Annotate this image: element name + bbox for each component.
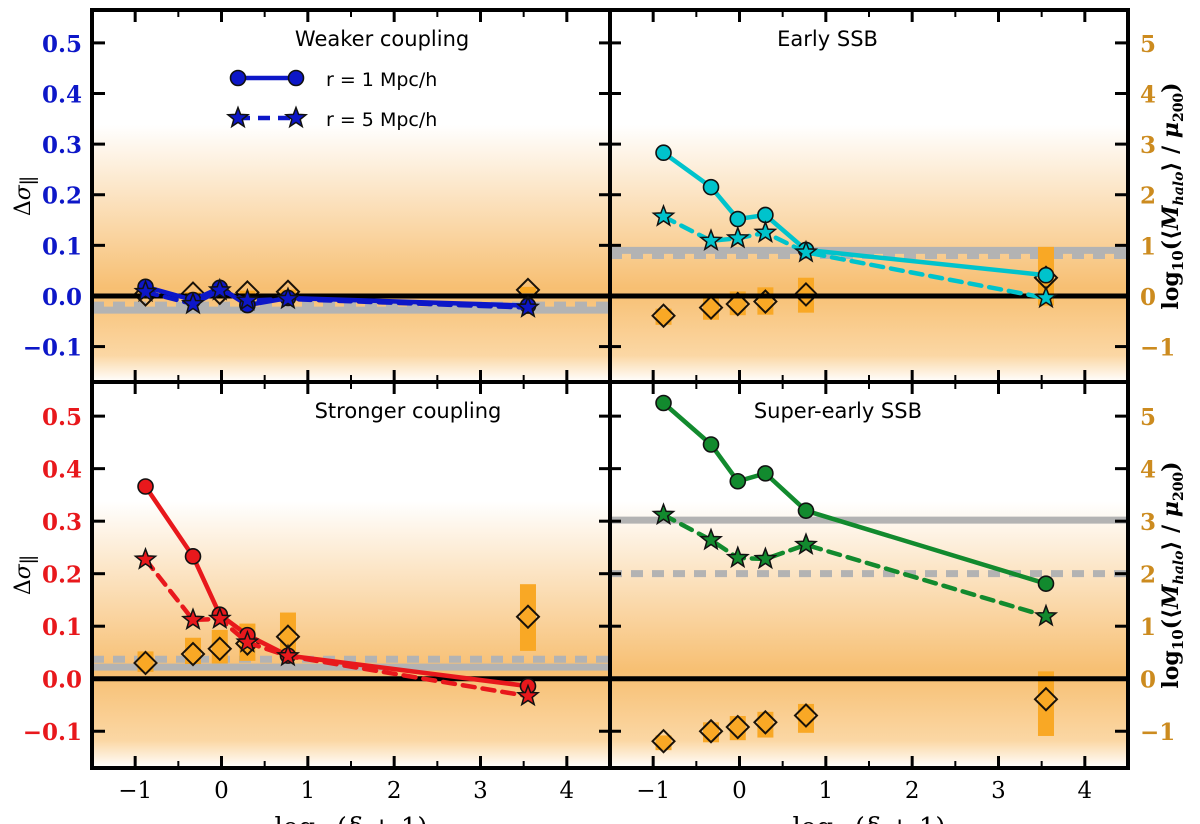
panel-weaker: Weaker coupling — [92, 10, 610, 382]
y-tick-label-left: 0.4 — [42, 457, 82, 484]
x-tick-label: −1 — [118, 778, 152, 804]
x-tick-label: 2 — [387, 778, 402, 804]
x-tick-label: 4 — [560, 778, 575, 804]
x-tick-label: 1 — [819, 778, 834, 804]
panel-superearly: Super-early SSB — [610, 382, 1128, 768]
x-tick-label: 0 — [732, 778, 747, 804]
marker-circle — [730, 474, 745, 489]
y-tick-label-left: 0.0 — [42, 667, 82, 694]
y-tick-label-left: 0.5 — [42, 31, 82, 58]
panel-early: Early SSB — [610, 10, 1128, 382]
y-tick-label-right: 0 — [1140, 284, 1156, 311]
marker-circle — [730, 212, 745, 227]
x-tick-label: 2 — [905, 778, 920, 804]
marker-circle — [758, 466, 773, 481]
panel-title-early: Early SSB — [777, 27, 878, 51]
y-tick-label-right: 5 — [1140, 31, 1156, 58]
y-tick-label-right: 4 — [1140, 457, 1156, 484]
marker-circle — [1038, 576, 1053, 591]
x-tick-label: 3 — [473, 778, 488, 804]
marker-circle — [186, 549, 201, 564]
figure-canvas: Weaker couplingEarly SSBStronger couplin… — [0, 0, 1200, 824]
y-tick-label-right: 0 — [1140, 667, 1156, 694]
y-tick-label-right: 4 — [1140, 82, 1156, 109]
y-tick-label-left: −0.1 — [23, 335, 82, 362]
percentile-box — [730, 716, 746, 740]
y-tick-label-right: 5 — [1140, 404, 1156, 431]
y-tick-label-right: 2 — [1140, 183, 1156, 210]
y-tick-label-left: 0.2 — [42, 183, 82, 210]
y-tick-label-left: 0.3 — [42, 509, 82, 536]
y-tick-label-right: 1 — [1140, 233, 1156, 260]
panel-background — [92, 10, 610, 382]
marker-circle — [656, 396, 671, 411]
panel-title-weaker: Weaker coupling — [295, 27, 469, 51]
marker-circle — [656, 145, 671, 160]
legend-label: r = 5 Mpc/h — [326, 109, 437, 131]
legend-marker-circle — [231, 71, 246, 86]
y-tick-label-left: 0.1 — [42, 233, 82, 260]
legend-label: r = 1 Mpc/h — [326, 69, 437, 91]
marker-circle — [798, 503, 813, 518]
y-tick-label-left: 0.3 — [42, 132, 82, 159]
marker-circle — [1038, 268, 1053, 283]
y-tick-label-left: −0.1 — [23, 719, 82, 746]
panel-title-superearly: Super-early SSB — [754, 399, 922, 423]
y-axis-title-top-right: log10(⟨Mhalo⟩ / μ200) — [1158, 82, 1187, 309]
y-tick-label-right: 3 — [1140, 509, 1156, 536]
panel-stronger: Stronger coupling — [92, 382, 610, 768]
percentile-box — [798, 704, 814, 733]
y-tick-label-left: 0.2 — [42, 562, 82, 589]
x-tick-label: 0 — [214, 778, 229, 804]
y-axis-title-top-left: Δσ∥ — [11, 176, 41, 216]
marker-circle — [138, 479, 153, 494]
x-tick-label: 3 — [991, 778, 1006, 804]
y-tick-label-right: 1 — [1140, 614, 1156, 641]
marker-circle — [704, 180, 719, 195]
panel-title-stronger: Stronger coupling — [315, 399, 502, 423]
x-tick-label: 1 — [301, 778, 316, 804]
percentile-box — [520, 584, 536, 651]
y-tick-label-left: 0.1 — [42, 614, 82, 641]
percentile-box — [520, 287, 536, 293]
x-tick-label: −1 — [636, 778, 670, 804]
y-tick-label-left: 0.4 — [42, 82, 82, 109]
y-tick-label-right: 2 — [1140, 562, 1156, 589]
percentile-box — [703, 297, 719, 320]
y-tick-label-left: 0.0 — [42, 284, 82, 311]
panel-background — [610, 10, 1128, 382]
y-tick-label-right: −1 — [1140, 719, 1175, 746]
legend-marker-circle — [289, 71, 304, 86]
x-tick-label: 4 — [1078, 778, 1093, 804]
panel-background — [92, 382, 610, 768]
marker-circle — [704, 437, 719, 452]
y-axis-title-bottom-left: Δσ∥ — [11, 555, 41, 595]
x-axis-title-left: log10(δ + 1) — [274, 813, 427, 824]
y-tick-label-right: 3 — [1140, 132, 1156, 159]
x-axis-title-right: log10(δ + 1) — [792, 813, 945, 824]
y-axis-title-bottom-right: log10(⟨Mhalo⟩ / μ200) — [1158, 461, 1187, 688]
y-tick-label-right: −1 — [1140, 335, 1175, 362]
y-tick-label-left: 0.5 — [42, 404, 82, 431]
figure-root: Weaker couplingEarly SSBStronger couplin… — [0, 0, 1200, 824]
